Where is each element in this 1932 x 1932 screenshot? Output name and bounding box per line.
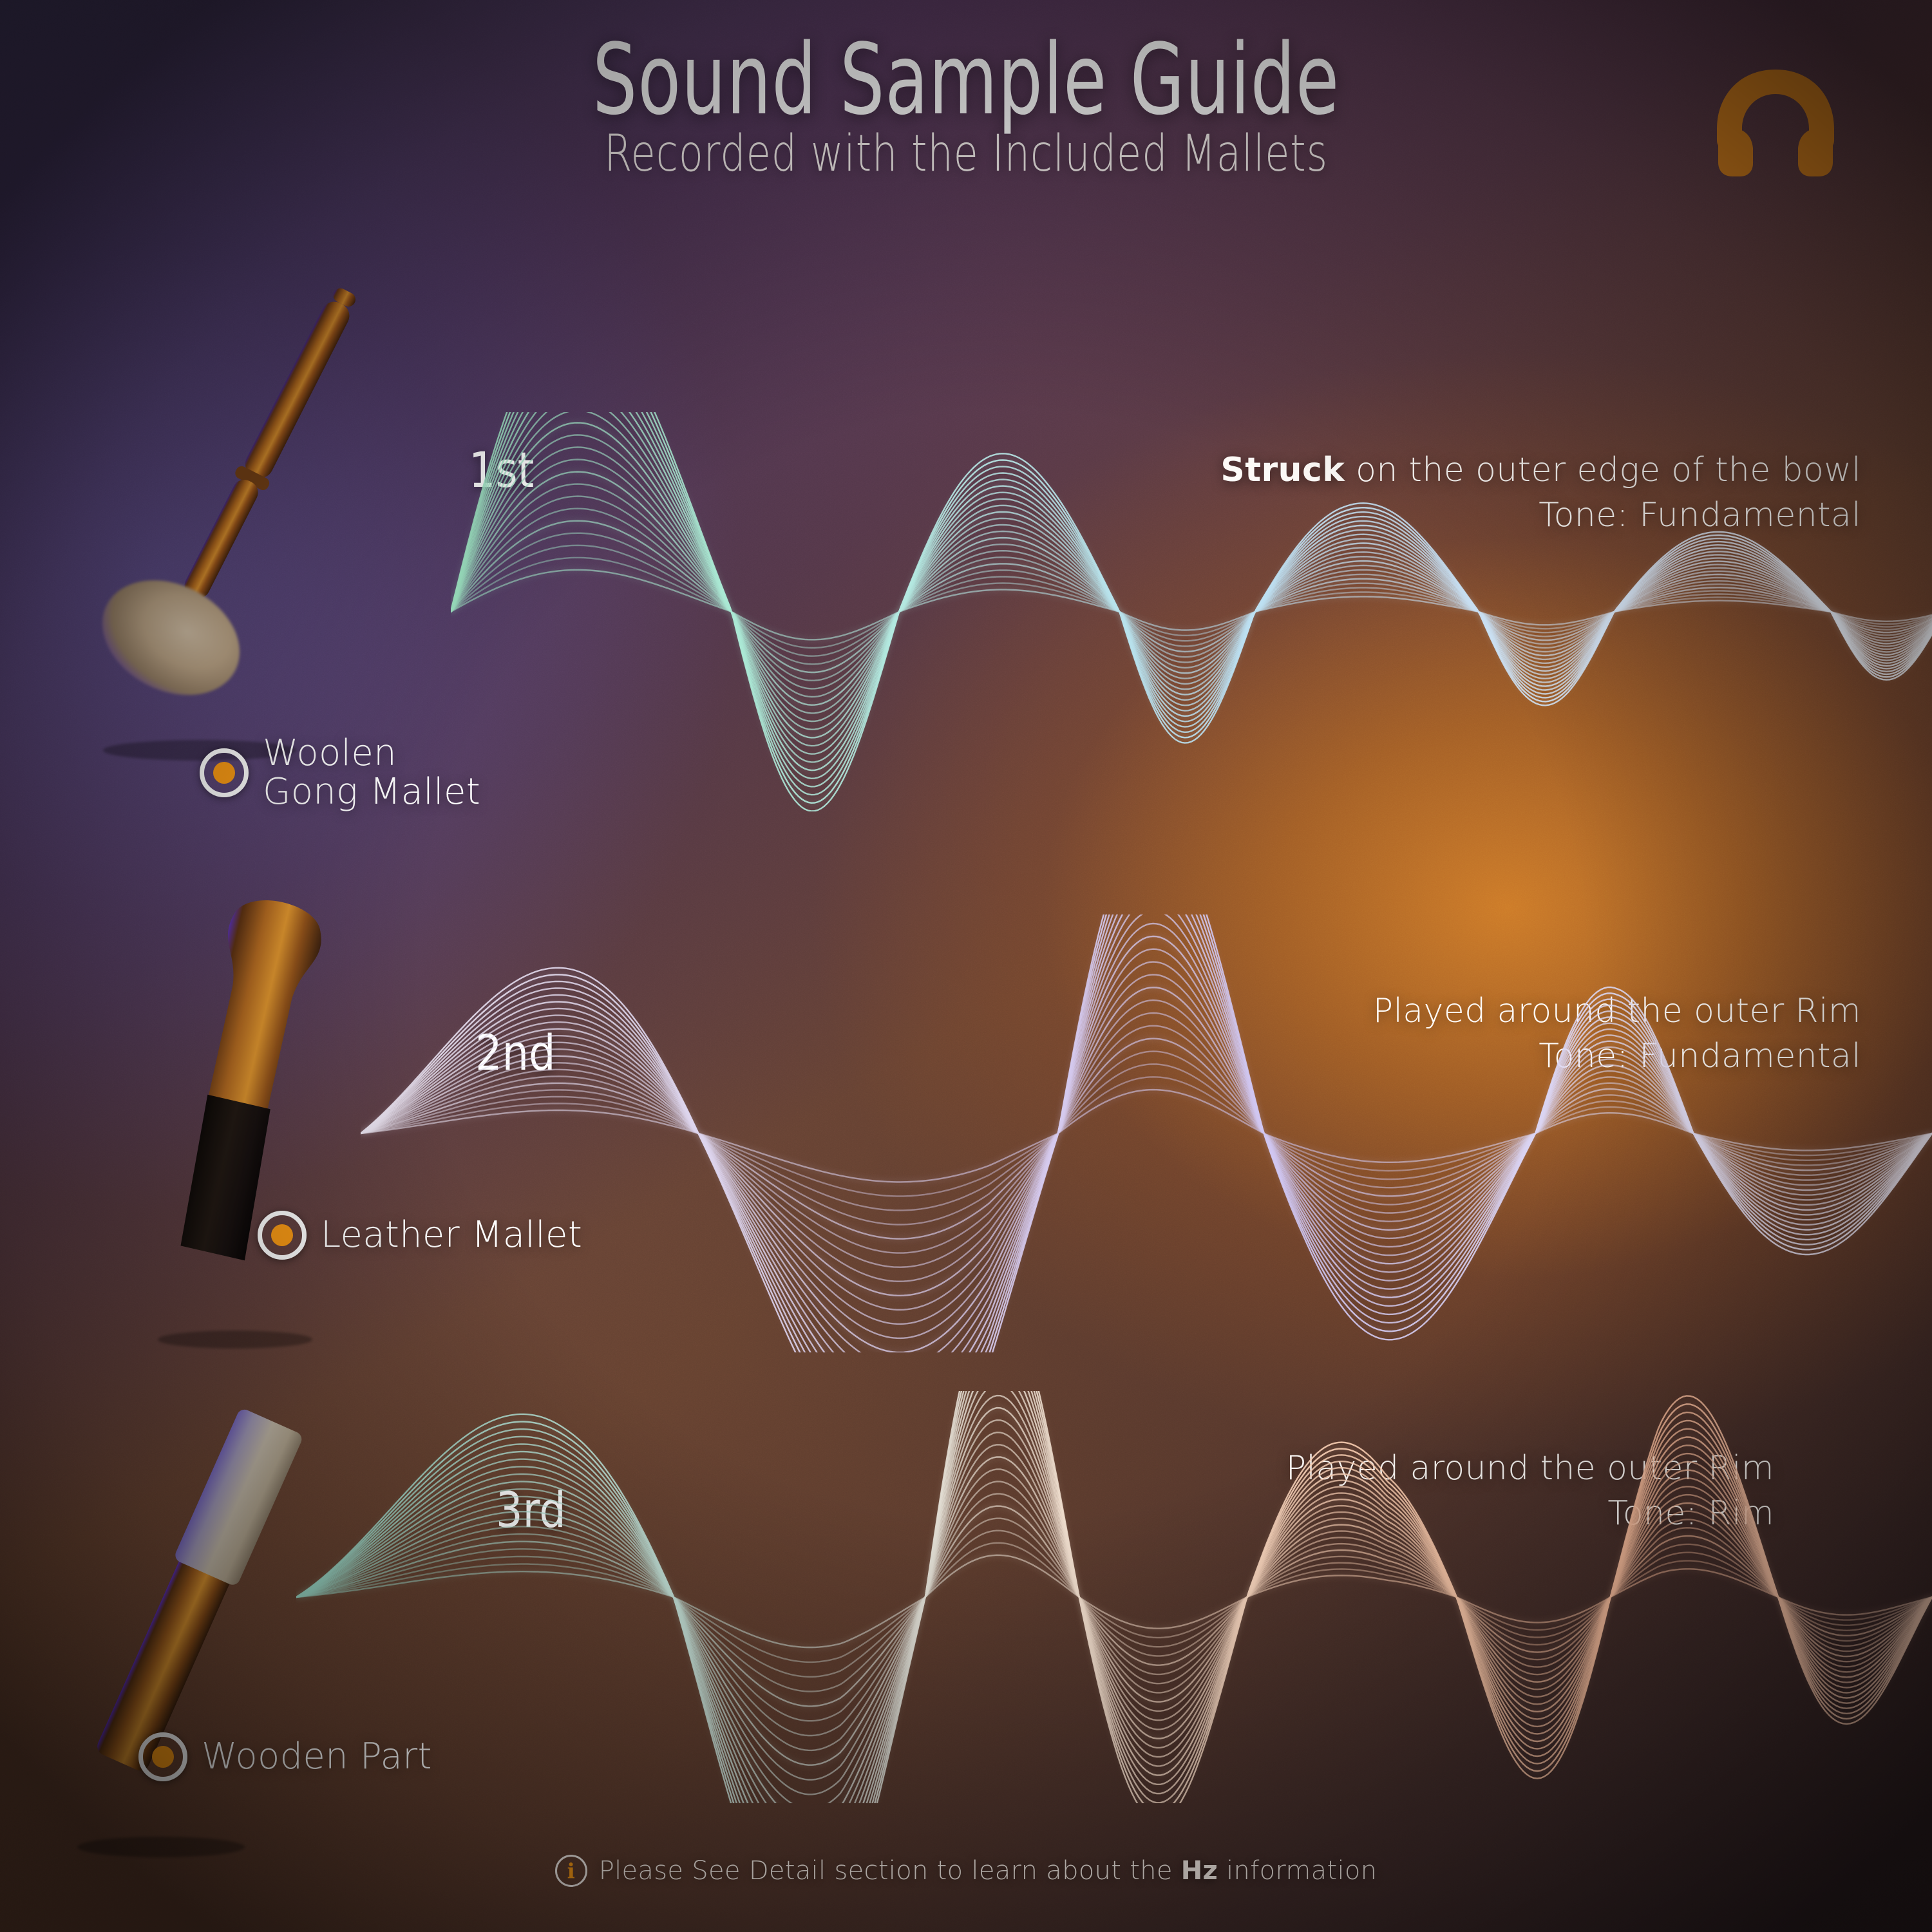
mallet-label-text-1: Woolen Gong Mallet <box>263 734 480 812</box>
bullet-icon-1 <box>200 748 249 797</box>
footer-text-after: information <box>1218 1856 1377 1886</box>
info-icon: i <box>555 1855 587 1887</box>
woolen-gong-mallet-image <box>77 238 374 818</box>
mallet-label-1: Woolen Gong Mallet <box>200 734 480 812</box>
mallet-label-text-3: Wooden Part <box>202 1738 432 1776</box>
waveform-chart-2 <box>361 914 1932 1352</box>
footer-text: Please See Detail section to learn about… <box>599 1856 1378 1886</box>
page-title: Sound Sample Guide <box>193 31 1739 129</box>
footer-text-bold: Hz <box>1181 1856 1218 1886</box>
page-subtitle: Recorded with the Included Mallets <box>193 129 1739 179</box>
waveform-chart-1 <box>451 412 1932 811</box>
wooden-part-mallet-image <box>52 1365 322 1874</box>
mallet-label-text-2: Leather Mallet <box>321 1216 582 1255</box>
mallet-label-2: Leather Mallet <box>258 1211 582 1260</box>
bullet-icon-2 <box>258 1211 307 1260</box>
mallet-label-3: Wooden Part <box>138 1732 432 1781</box>
footer-note: i Please See Detail section to learn abo… <box>0 1855 1932 1887</box>
headphones-icon <box>1708 62 1843 178</box>
waveform-chart-3 <box>296 1391 1932 1803</box>
bullet-icon-3 <box>138 1732 187 1781</box>
footer-text-before: Please See Detail section to learn about… <box>599 1856 1181 1886</box>
leather-mallet-image <box>103 895 374 1372</box>
poster-header: Sound Sample Guide Recorded with the Inc… <box>0 31 1932 179</box>
poster-canvas: Sound Sample Guide Recorded with the Inc… <box>0 0 1932 1932</box>
